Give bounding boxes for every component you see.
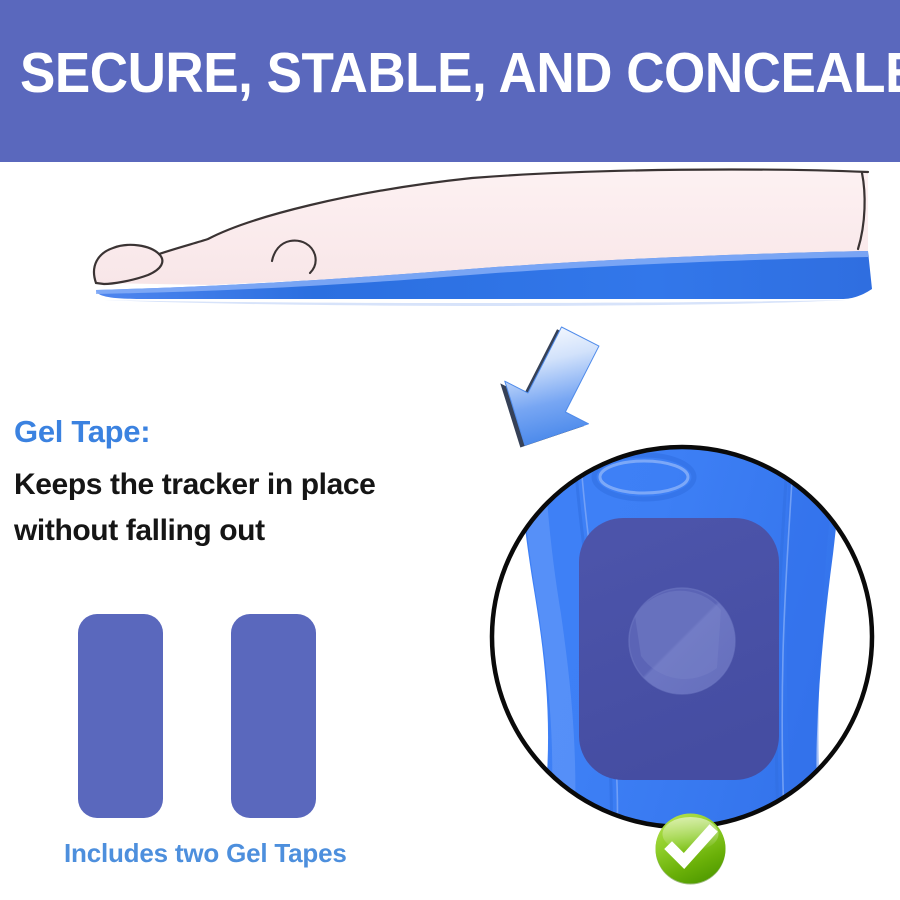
gel-tape-swatch [78,614,163,818]
gel-tape-heading: Gel Tape: [14,412,484,452]
down-right-arrow-icon [488,318,618,463]
gel-tape-caption: Includes two Gel Tapes [64,838,404,869]
foot-illustration [0,163,900,311]
gel-tape-swatch [231,614,316,818]
gel-tape-swatches [78,614,338,818]
feature-line-1: Keeps the tracker in place [14,462,484,508]
green-check-badge [652,810,729,887]
feature-line-2: without falling out [14,508,484,554]
page-title: SECURE, STABLE, AND CONCEALE [20,42,900,104]
zoomed-insole-detail [489,444,875,830]
feature-text-block: Gel Tape: Keeps the tracker in place wit… [14,412,484,554]
tracker-disc [629,588,735,694]
product-feature-graphic: SECURE, STABLE, AND CONCEALE [0,0,900,900]
insole-shadow [104,300,846,306]
header-banner: SECURE, STABLE, AND CONCEALE [0,0,900,162]
